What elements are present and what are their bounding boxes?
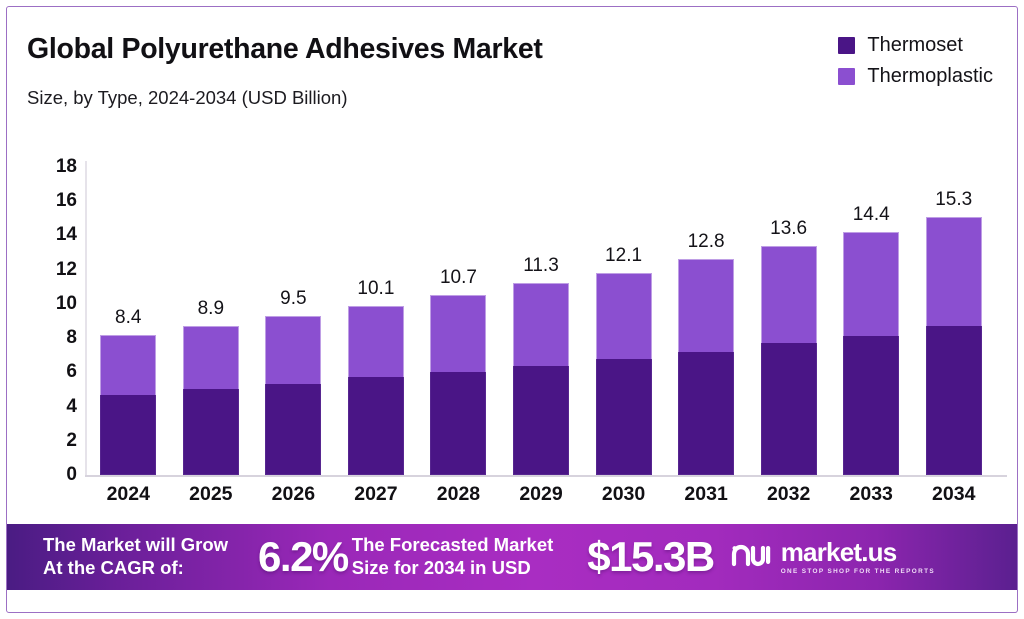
bar-segment-thermoset[interactable] xyxy=(183,389,239,475)
bar-segment-thermoplastic[interactable] xyxy=(513,283,569,365)
legend-item-thermoset[interactable]: Thermoset xyxy=(838,34,993,57)
x-axis-line xyxy=(85,475,1007,477)
x-axis-tick: 2026 xyxy=(252,483,335,506)
bar-segment-thermoset[interactable] xyxy=(761,343,817,475)
forecast-value: $15.3B xyxy=(587,533,713,581)
x-axis-tick: 2025 xyxy=(170,483,253,506)
bar-column[interactable]: 15.3 xyxy=(912,147,995,475)
legend-swatch-thermoset xyxy=(838,37,855,54)
chart-plot-area: 024681012141618 8.48.99.510.110.711.312.… xyxy=(7,127,1017,527)
bar-value-label: 10.1 xyxy=(357,278,394,300)
bar-column[interactable]: 10.1 xyxy=(335,147,418,475)
bar-segment-thermoplastic[interactable] xyxy=(926,217,982,327)
bar-column[interactable]: 8.4 xyxy=(87,147,170,475)
bar-value-label: 8.9 xyxy=(198,298,224,320)
infographic-root: Global Polyurethane Adhesives Market Siz… xyxy=(0,0,1024,619)
y-axis-tick: 0 xyxy=(66,464,77,486)
bar-stack[interactable] xyxy=(265,316,321,475)
bar-segment-thermoplastic[interactable] xyxy=(265,316,321,384)
legend-label-thermoplastic: Thermoplastic xyxy=(867,65,993,88)
bar-segment-thermoset[interactable] xyxy=(678,352,734,475)
cagr-caption-line1: The Market will Grow xyxy=(43,534,228,557)
bar-value-label: 10.7 xyxy=(440,267,477,289)
bar-stack[interactable] xyxy=(183,326,239,475)
bar-column[interactable]: 12.1 xyxy=(582,147,665,475)
bar-column[interactable]: 14.4 xyxy=(830,147,913,475)
bar-segment-thermoset[interactable] xyxy=(843,336,899,475)
x-axis: 2024202520262027202820292030203120322033… xyxy=(87,483,995,506)
x-axis-tick: 2034 xyxy=(912,483,995,506)
cagr-caption-line2: At the CAGR of: xyxy=(43,557,228,580)
y-axis-tick: 8 xyxy=(66,327,77,349)
brand-text: market.us ONE STOP SHOP FOR THE REPORTS xyxy=(781,539,935,575)
bar-segment-thermoset[interactable] xyxy=(926,326,982,475)
bar-value-label: 8.4 xyxy=(115,307,141,329)
y-axis-tick: 16 xyxy=(56,190,77,212)
bar-stack[interactable] xyxy=(430,295,486,475)
bar-stack[interactable] xyxy=(100,335,156,475)
bar-value-label: 15.3 xyxy=(935,189,972,211)
bar-segment-thermoset[interactable] xyxy=(513,366,569,476)
y-axis-tick: 14 xyxy=(56,224,77,246)
forecast-caption: The Forecasted Market Size for 2034 in U… xyxy=(352,534,554,579)
bar-column[interactable]: 12.8 xyxy=(665,147,748,475)
x-axis-tick: 2031 xyxy=(665,483,748,506)
brand-logo[interactable]: market.us ONE STOP SHOP FOR THE REPORTS xyxy=(730,539,935,575)
x-axis-tick: 2032 xyxy=(747,483,830,506)
bar-value-label: 13.6 xyxy=(770,218,807,240)
brand-name: market.us xyxy=(781,539,935,565)
y-axis-tick: 18 xyxy=(56,156,77,178)
legend-label-thermoset: Thermoset xyxy=(867,34,963,57)
y-axis: 024681012141618 xyxy=(35,167,77,475)
legend-item-thermoplastic[interactable]: Thermoplastic xyxy=(838,65,993,88)
y-axis-tick: 10 xyxy=(56,293,77,315)
bar-segment-thermoplastic[interactable] xyxy=(430,295,486,372)
bar-segment-thermoset[interactable] xyxy=(430,372,486,475)
bar-segment-thermoplastic[interactable] xyxy=(348,306,404,378)
bar-segment-thermoplastic[interactable] xyxy=(596,273,652,359)
legend-swatch-thermoplastic xyxy=(838,68,855,85)
bar-stack[interactable] xyxy=(926,217,982,475)
bar-group: 8.48.99.510.110.711.312.112.813.614.415.… xyxy=(87,147,995,475)
bar-stack[interactable] xyxy=(843,232,899,475)
bar-segment-thermoplastic[interactable] xyxy=(843,232,899,336)
y-axis-tick: 2 xyxy=(66,430,77,452)
bar-segment-thermoplastic[interactable] xyxy=(678,259,734,351)
forecast-caption-line2: Size for 2034 in USD xyxy=(352,557,554,580)
bar-value-label: 12.8 xyxy=(688,231,725,253)
y-axis-tick: 12 xyxy=(56,259,77,281)
bar-column[interactable]: 9.5 xyxy=(252,147,335,475)
bar-value-label: 12.1 xyxy=(605,245,642,267)
x-axis-tick: 2024 xyxy=(87,483,170,506)
bar-value-label: 9.5 xyxy=(280,288,306,310)
bar-stack[interactable] xyxy=(678,259,734,475)
cagr-value: 6.2% xyxy=(258,533,348,581)
bar-column[interactable]: 10.7 xyxy=(417,147,500,475)
bar-stack[interactable] xyxy=(761,246,817,475)
bar-stack[interactable] xyxy=(596,273,652,475)
brand-tagline: ONE STOP SHOP FOR THE REPORTS xyxy=(781,569,935,575)
y-axis-tick: 6 xyxy=(66,361,77,383)
x-axis-tick: 2027 xyxy=(335,483,418,506)
bar-segment-thermoset[interactable] xyxy=(100,395,156,475)
x-axis-tick: 2028 xyxy=(417,483,500,506)
chart-legend: Thermoset Thermoplastic xyxy=(838,34,993,88)
bar-segment-thermoset[interactable] xyxy=(265,384,321,475)
bar-value-label: 14.4 xyxy=(853,204,890,226)
bar-segment-thermoset[interactable] xyxy=(596,359,652,475)
bar-segment-thermoplastic[interactable] xyxy=(183,326,239,389)
y-axis-tick: 4 xyxy=(66,396,77,418)
x-axis-tick: 2033 xyxy=(830,483,913,506)
bar-segment-thermoplastic[interactable] xyxy=(100,335,156,395)
page-title: Global Polyurethane Adhesives Market xyxy=(27,33,543,66)
x-axis-tick: 2029 xyxy=(500,483,583,506)
bar-column[interactable]: 8.9 xyxy=(170,147,253,475)
cagr-caption: The Market will Grow At the CAGR of: xyxy=(43,534,228,579)
chart-card: Global Polyurethane Adhesives Market Siz… xyxy=(6,6,1018,613)
bar-segment-thermoplastic[interactable] xyxy=(761,246,817,344)
bar-stack[interactable] xyxy=(348,306,404,475)
forecast-caption-line1: The Forecasted Market xyxy=(352,534,554,557)
bar-column[interactable]: 13.6 xyxy=(747,147,830,475)
x-axis-tick: 2030 xyxy=(582,483,665,506)
bar-value-label: 11.3 xyxy=(523,255,559,277)
footer-banner: The Market will Grow At the CAGR of: 6.2… xyxy=(7,524,1017,590)
bar-stack[interactable] xyxy=(513,283,569,475)
page-subtitle: Size, by Type, 2024-2034 (USD Billion) xyxy=(27,87,348,109)
bar-column[interactable]: 11.3 xyxy=(500,147,583,475)
market-us-mark-icon xyxy=(730,542,772,573)
chart-header: Global Polyurethane Adhesives Market Siz… xyxy=(7,7,1017,127)
bar-segment-thermoset[interactable] xyxy=(348,377,404,475)
